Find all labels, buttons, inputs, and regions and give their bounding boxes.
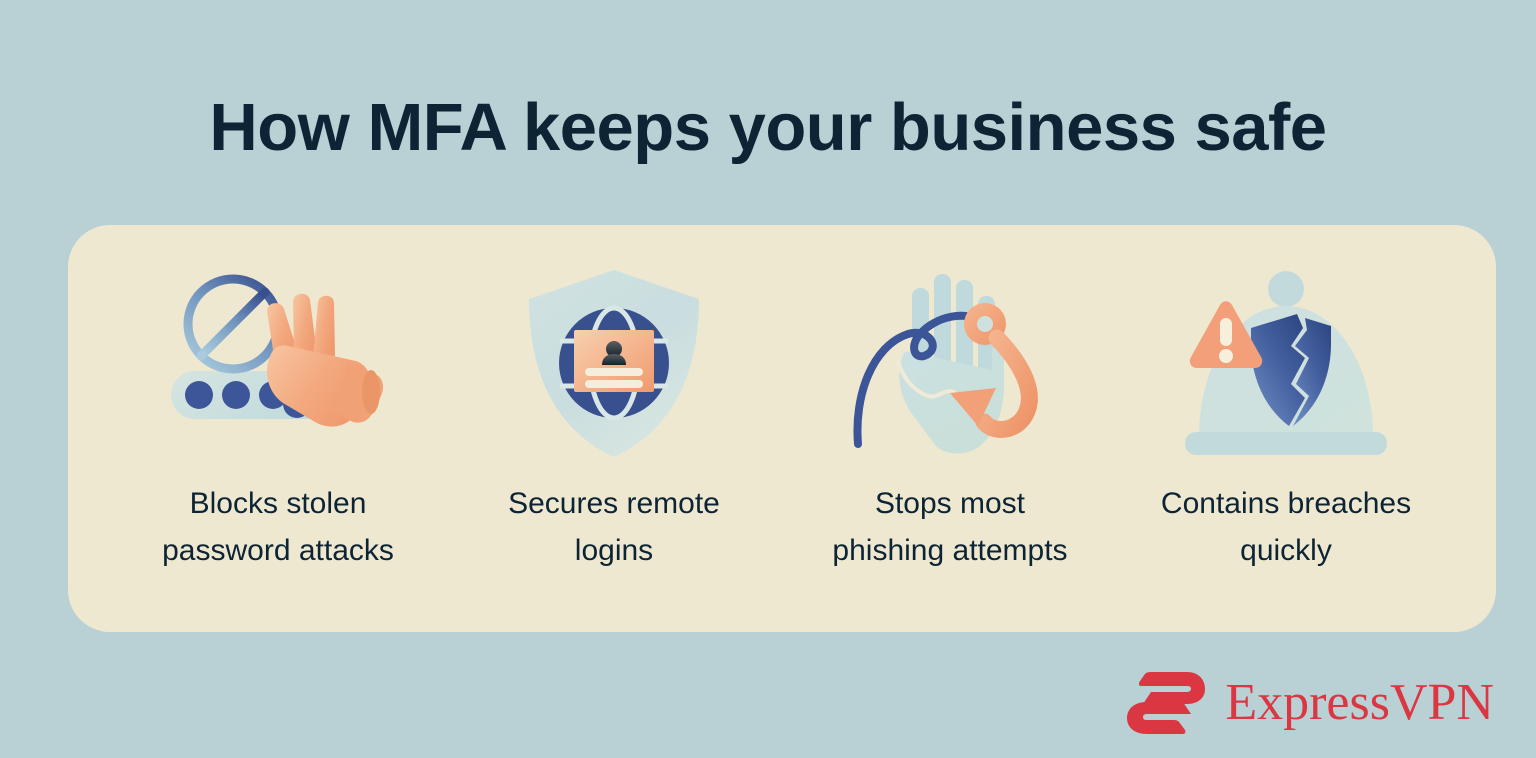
feature-label: Blocks stolen password attacks bbox=[162, 481, 394, 574]
feature-label-line2: phishing attempts bbox=[832, 534, 1067, 567]
feature-label-line1: Stops most bbox=[875, 487, 1025, 520]
expressvpn-logo-mark bbox=[1125, 670, 1209, 736]
feature-label: Secures remote logins bbox=[508, 481, 720, 574]
feature-label-line2: quickly bbox=[1240, 534, 1332, 567]
feature-label-line2: password attacks bbox=[162, 534, 394, 567]
shield-globe-id-card-icon bbox=[499, 263, 729, 463]
feature-label-line1: Contains breaches bbox=[1161, 487, 1411, 520]
feature-item-contains-breaches-quickly: Contains breaches quickly bbox=[1118, 263, 1454, 574]
features-row: Blocks stolen password attacks bbox=[68, 225, 1496, 632]
feature-label-line2: logins bbox=[575, 534, 653, 567]
feature-item-stops-most-phishing-attempts: Stops most phishing attempts bbox=[782, 263, 1118, 574]
expressvpn-wordmark: ExpressVPN bbox=[1225, 677, 1494, 729]
expressvpn-logo[interactable]: ExpressVPN bbox=[1125, 670, 1494, 736]
features-card: Blocks stolen password attacks bbox=[68, 225, 1496, 632]
feature-item-blocks-stolen-password-attacks: Blocks stolen password attacks bbox=[110, 263, 446, 574]
feature-label: Contains breaches quickly bbox=[1161, 481, 1411, 574]
stop-hand-phishing-hook-icon bbox=[835, 263, 1065, 463]
feature-item-secures-remote-logins: Secures remote logins bbox=[446, 263, 782, 574]
feature-label-line1: Secures remote bbox=[508, 487, 720, 520]
feature-label: Stops most phishing attempts bbox=[832, 481, 1067, 574]
cloche-cracked-shield-warning-icon bbox=[1171, 263, 1401, 463]
page-title: How MFA keeps your business safe bbox=[0, 92, 1536, 164]
blocked-password-hand-icon bbox=[163, 263, 393, 463]
feature-label-line1: Blocks stolen bbox=[190, 487, 367, 520]
